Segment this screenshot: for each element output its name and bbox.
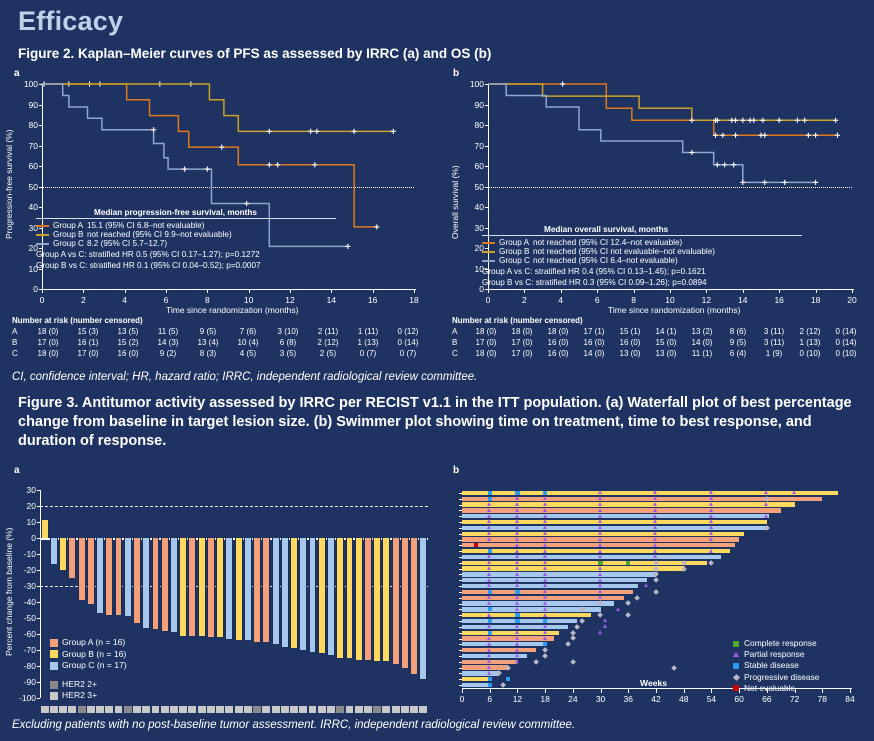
waterfall-bar	[244, 538, 252, 640]
marker-partial-response	[515, 653, 519, 657]
swimmer-bar	[462, 520, 767, 524]
marker-stable-disease	[488, 590, 492, 594]
marker-partial-response	[515, 543, 519, 547]
x-tick	[601, 689, 602, 693]
marker-partial-response	[598, 502, 602, 506]
marker-partial-response	[515, 659, 519, 663]
waterfall-bar	[68, 538, 76, 578]
waterfall-chart: 3020100-10-20-30-40-50-60-70-80-90-100Pe…	[0, 462, 448, 714]
censor-mark	[312, 162, 317, 167]
y-tick-label: -90	[8, 677, 36, 687]
censor-mark	[560, 81, 565, 86]
waterfall-bar	[198, 538, 206, 636]
marker-progressive-disease	[653, 589, 659, 595]
waterfall-bar	[382, 538, 390, 661]
marker-partial-response	[543, 508, 547, 512]
waterfall-bar	[115, 538, 123, 615]
waterfall-bar	[87, 538, 95, 604]
km-legend-row: Group Anot reached (95% CI 12.4–not eval…	[482, 238, 718, 247]
risk-row-label: C	[452, 348, 468, 359]
waterfall-bar	[262, 538, 270, 642]
marker-partial-response	[515, 572, 519, 576]
marker-stable-disease	[488, 497, 492, 501]
waterfall-bar	[410, 538, 418, 674]
risk-cell: 2 (11)	[308, 326, 348, 337]
risk-cell: 13 (5)	[108, 326, 148, 337]
risk-cell: 6 (4)	[720, 348, 756, 359]
x-tick	[573, 689, 574, 693]
y-tick	[37, 650, 40, 651]
risk-cell: 14 (1)	[648, 326, 684, 337]
her2-status-cell	[290, 706, 298, 713]
swimmer-legend-row: Complete response	[732, 638, 819, 649]
marker-stable-disease	[543, 642, 547, 646]
poster-page: Efficacy Figure 2. Kaplan–Meier curves o…	[0, 0, 874, 741]
marker-partial-response	[764, 514, 768, 518]
risk-cell: 13 (4)	[188, 337, 228, 348]
censor-mark	[813, 133, 818, 138]
km-legend-swatch	[482, 242, 495, 244]
swimmer-legend-marker	[733, 663, 739, 669]
censor-mark	[689, 150, 694, 155]
km-legend-median-value: not reached (95% CI 6.4–not evaluable)	[533, 256, 718, 265]
censor-mark	[762, 180, 767, 185]
km-legend-group-label: Group C	[53, 239, 87, 248]
risk-cell: 1 (9)	[756, 348, 792, 359]
censor-mark	[813, 180, 818, 185]
marker-progressive-disease	[570, 636, 576, 642]
marker-partial-response	[515, 624, 519, 628]
km-legend-swatch	[36, 225, 49, 227]
km-legend-row: Group Bnot reached (95% CI 9.9–not evalu…	[36, 230, 235, 239]
km-legend-median-value: not reached (95% CI 9.9–not evaluable)	[87, 230, 235, 239]
risk-cell: 8 (6)	[720, 326, 756, 337]
marker-partial-response	[709, 531, 713, 535]
her2-status-cell	[198, 706, 206, 713]
swimmer-legend-label: Partial response	[744, 649, 805, 660]
marker-partial-response	[653, 502, 657, 506]
risk-cell: 11 (5)	[148, 326, 188, 337]
censor-mark	[762, 133, 767, 138]
km-legend-group-label: Group C	[499, 256, 533, 265]
marker-progressive-disease	[653, 577, 659, 583]
waterfall-legend-label: Group A (n = 16)	[62, 637, 125, 649]
risk-cell: 0 (10)	[792, 348, 828, 359]
y-tick	[37, 698, 40, 699]
marker-partial-response	[598, 589, 602, 593]
marker-partial-response	[543, 589, 547, 593]
her2-status-cell	[336, 706, 344, 713]
marker-partial-response	[598, 496, 602, 500]
risk-cell: 0 (7)	[348, 348, 388, 359]
swimmer-bar	[462, 613, 591, 617]
risk-cell: 17 (0)	[504, 348, 540, 359]
marker-partial-response	[603, 618, 607, 622]
y-tick	[37, 570, 40, 571]
x-tick-label: 24	[564, 694, 582, 704]
her2-legend: HER2 2+HER2 3+	[50, 679, 97, 702]
x-tick	[711, 689, 712, 693]
x-tick-label: 84	[841, 694, 859, 704]
marker-partial-response	[515, 601, 519, 605]
km-curve-group-c	[488, 84, 816, 182]
risk-table-os: Number at risk (number censored)A18 (0)1…	[452, 316, 864, 359]
km-pfs-chart: 0102030405060708090100024681012141618Tim…	[0, 62, 440, 307]
swimmer-bar	[462, 526, 767, 530]
her2-status-cell	[364, 706, 372, 713]
marker-partial-response	[598, 543, 602, 547]
risk-cell: 17 (0)	[68, 348, 108, 359]
waterfall-bar	[179, 538, 187, 636]
x-tick-label: 66	[758, 694, 776, 704]
marker-partial-response	[487, 531, 491, 535]
censor-mark	[722, 162, 727, 167]
swimmer-legend-marker	[733, 685, 739, 691]
marker-partial-response	[644, 583, 648, 587]
swimmer-bar	[462, 619, 577, 623]
marker-partial-response	[543, 496, 547, 500]
x-tick	[684, 689, 685, 693]
her2-status-cell	[346, 706, 354, 713]
swimmer-bar	[462, 561, 707, 565]
risk-row-label: B	[452, 337, 468, 348]
x-tick	[545, 689, 546, 693]
marker-partial-response	[487, 519, 491, 523]
risk-cell: 8 (3)	[188, 348, 228, 359]
her2-status-cell	[87, 706, 95, 713]
censor-mark	[391, 129, 396, 134]
x-axis-title: Weeks	[640, 678, 667, 688]
her2-legend-label: HER2 3+	[62, 690, 97, 702]
her2-legend-row: HER2 3+	[50, 690, 97, 702]
x-tick	[822, 689, 823, 693]
her2-status-cell	[41, 706, 49, 713]
marker-progressive-disease	[575, 624, 581, 630]
waterfall-bar	[59, 538, 67, 570]
marker-partial-response	[598, 630, 602, 634]
table-row: A18 (0)15 (3)13 (5)11 (5)9 (5)7 (6)3 (10…	[12, 326, 428, 337]
marker-partial-response	[543, 543, 547, 547]
marker-partial-response	[543, 554, 547, 558]
her2-legend-swatch	[50, 692, 58, 700]
waterfall-bar	[318, 538, 326, 653]
her2-status-cell	[262, 706, 270, 713]
censor-mark	[345, 244, 350, 249]
waterfall-bar	[401, 538, 409, 668]
censor-mark	[351, 129, 356, 134]
km-hr-block: Group A vs C: stratified HR 0.5 (95% CI …	[36, 250, 336, 271]
risk-cell: 14 (0)	[684, 337, 720, 348]
marker-partial-response	[543, 519, 547, 523]
marker-partial-response	[543, 549, 547, 553]
marker-partial-response	[709, 496, 713, 500]
marker-partial-response	[487, 554, 491, 558]
risk-cell: 16 (0)	[576, 337, 612, 348]
swimmer-bar	[462, 648, 536, 652]
waterfall-bar	[355, 538, 363, 660]
swimmer-legend: Complete responsePartial responseStable …	[732, 638, 819, 694]
km-curves	[0, 62, 440, 312]
waterfall-bar	[327, 538, 335, 655]
waterfall-bar	[170, 538, 178, 632]
marker-partial-response	[515, 636, 519, 640]
her2-status-cell	[161, 706, 169, 713]
risk-cell: 0 (10)	[828, 348, 864, 359]
waterfall-bar	[309, 538, 317, 652]
censor-mark	[720, 133, 725, 138]
her2-status-cell	[124, 706, 132, 713]
marker-partial-response	[709, 549, 713, 553]
x-tick	[462, 689, 463, 693]
y-tick-label: 10	[8, 517, 36, 527]
marker-partial-response	[598, 549, 602, 553]
km-legend-group-label: Group B	[499, 247, 533, 256]
km-legend-row: Group A15.1 (95% CI 6.8–not evaluable)	[36, 221, 235, 230]
marker-partial-response	[653, 554, 657, 558]
km-os-chart: 010203040506070809010002468101214161820T…	[440, 62, 874, 307]
censor-mark	[689, 118, 694, 123]
swimmer-legend-marker-wrap	[732, 641, 740, 647]
risk-cell: 15 (2)	[108, 337, 148, 348]
marker-partial-response	[792, 490, 796, 494]
her2-status-cell	[96, 706, 104, 713]
risk-row-label: C	[12, 348, 28, 359]
censor-mark	[267, 162, 272, 167]
km-legend-swatch	[482, 260, 495, 262]
marker-partial-response	[487, 560, 491, 564]
risk-cell: 15 (1)	[612, 326, 648, 337]
page-title: Efficacy	[18, 6, 123, 37]
marker-partial-response	[764, 502, 768, 506]
marker-partial-response	[543, 514, 547, 518]
swimmer-bar	[462, 532, 744, 536]
km-legend-swatch	[36, 243, 49, 245]
marker-progressive-disease	[625, 612, 631, 618]
waterfall-bar	[281, 538, 289, 647]
waterfall-bar	[235, 538, 243, 640]
table-row: A18 (0)18 (0)18 (0)17 (1)15 (1)14 (1)13 …	[452, 326, 864, 337]
marker-partial-response	[603, 624, 607, 628]
km-legend-title: Median progression-free survival, months	[36, 208, 336, 217]
waterfall-bar	[272, 538, 280, 644]
x-tick-label: 42	[647, 694, 665, 704]
marker-progressive-disease	[542, 653, 548, 659]
marker-partial-response	[653, 519, 657, 523]
risk-cell: 0 (14)	[828, 337, 864, 348]
marker-partial-response	[515, 630, 519, 634]
swimmer-bar	[462, 566, 684, 570]
y-tick	[37, 522, 40, 523]
her2-status-cell	[355, 706, 363, 713]
her2-status-cell	[410, 706, 418, 713]
figure2-caption: Figure 2. Kaplan–Meier curves of PFS as …	[18, 46, 858, 61]
y-tick	[37, 618, 40, 619]
risk-cell: 16 (0)	[108, 348, 148, 359]
marker-partial-response	[515, 537, 519, 541]
swimmer-legend-marker	[732, 674, 739, 681]
km-hr-line: Group B vs C: stratified HR 0.1 (95% CI …	[36, 261, 336, 272]
km-legend-row: Group Bnot reached (95% CI not evaluable…	[482, 247, 718, 256]
km-hr-line: Group B vs C: stratified HR 0.3 (95% CI …	[482, 278, 802, 289]
waterfall-bar	[299, 538, 307, 650]
km-legend-rule	[36, 218, 336, 219]
risk-table-pfs: Number at risk (number censored)A18 (0)1…	[12, 316, 428, 359]
y-tick-label: -80	[8, 661, 36, 671]
marker-partial-response	[515, 508, 519, 512]
risk-cell: 0 (14)	[388, 337, 428, 348]
marker-partial-response	[515, 560, 519, 564]
km-legend-median-value: 15.1 (95% CI 6.8–not evaluable)	[87, 221, 235, 230]
marker-stable-disease	[488, 619, 492, 623]
her2-status-cell	[105, 706, 113, 713]
censor-mark	[835, 133, 840, 138]
her2-legend-label: HER2 2+	[62, 679, 97, 691]
risk-cell: 18 (0)	[28, 326, 68, 337]
risk-cell: 2 (12)	[792, 326, 828, 337]
risk-cell: 16 (1)	[68, 337, 108, 348]
marker-partial-response	[487, 671, 491, 675]
waterfall-bar	[161, 538, 169, 631]
swimmer-legend-marker-wrap	[732, 685, 740, 691]
risk-cell: 15 (0)	[648, 337, 684, 348]
marker-partial-response	[709, 525, 713, 529]
km-legend-swatch-cell	[482, 247, 499, 256]
x-tick-label: 36	[619, 694, 637, 704]
km-legend-group-label: Group A	[53, 221, 87, 230]
waterfall-bar	[216, 538, 224, 637]
km-legend-swatch-cell	[482, 238, 499, 247]
swimmer-bar	[462, 514, 769, 518]
marker-stable-disease	[488, 607, 492, 611]
marker-partial-response	[598, 519, 602, 523]
marker-partial-response	[709, 537, 713, 541]
marker-partial-response	[487, 624, 491, 628]
censor-mark	[777, 118, 782, 123]
km-legend-group-label: Group B	[53, 230, 87, 239]
marker-partial-response	[543, 566, 547, 570]
risk-table: A18 (0)18 (0)18 (0)17 (1)15 (1)14 (1)13 …	[452, 326, 864, 359]
marker-partial-response	[515, 549, 519, 553]
marker-partial-response	[653, 496, 657, 500]
censor-mark	[760, 118, 765, 123]
marker-partial-response	[515, 648, 519, 652]
y-tick	[37, 682, 40, 683]
risk-cell: 16 (0)	[612, 337, 648, 348]
risk-cell: 1 (13)	[348, 337, 388, 348]
risk-row-label: A	[452, 326, 468, 337]
her2-status-cell	[272, 706, 280, 713]
marker-stable-disease	[515, 613, 519, 617]
waterfall-bar	[346, 538, 354, 658]
km-hr-line: Group A vs C: stratified HR 0.5 (95% CI …	[36, 250, 336, 261]
censor-mark	[731, 162, 736, 167]
her2-status-cell	[299, 706, 307, 713]
waterfall-bar	[336, 538, 344, 658]
risk-cell: 9 (5)	[720, 337, 756, 348]
risk-cell: 6 (8)	[268, 337, 308, 348]
waterfall-bar	[419, 538, 427, 679]
marker-partial-response	[598, 554, 602, 558]
risk-cell: 1 (11)	[348, 326, 388, 337]
swimmer-legend-label: Stable disease	[744, 660, 799, 671]
marker-partial-response	[598, 531, 602, 535]
risk-cell: 3 (10)	[268, 326, 308, 337]
marker-partial-response	[543, 560, 547, 564]
her2-status-cell	[225, 706, 233, 713]
marker-partial-response	[487, 642, 491, 646]
censor-mark	[806, 133, 811, 138]
km-curve-group-b	[42, 84, 393, 131]
swimmer-bar	[462, 549, 730, 553]
marker-partial-response	[487, 583, 491, 587]
waterfall-bar	[253, 538, 261, 642]
swimmer-legend-label: Progressive disease	[744, 672, 819, 683]
marker-partial-response	[515, 502, 519, 506]
reference-line-20	[40, 506, 428, 507]
her2-status-cell	[59, 706, 67, 713]
table-row: B17 (0)17 (0)16 (0)16 (0)16 (0)15 (0)14 …	[452, 337, 864, 348]
km-legend-swatch	[482, 251, 495, 253]
censor-mark	[802, 118, 807, 123]
her2-status-cell	[188, 706, 196, 713]
marker-partial-response	[543, 595, 547, 599]
x-tick-label: 18	[536, 694, 554, 704]
marker-partial-response	[487, 648, 491, 652]
swimmer-bar	[462, 683, 490, 687]
censor-mark	[308, 129, 313, 134]
marker-partial-response	[709, 508, 713, 512]
marker-partial-response	[487, 601, 491, 605]
y-tick	[37, 490, 40, 491]
swimmer-legend-marker-wrap	[732, 663, 740, 669]
swimmer-bar	[462, 671, 499, 675]
marker-partial-response	[709, 502, 713, 506]
y-tick	[37, 602, 40, 603]
marker-stable-disease	[506, 677, 510, 681]
marker-partial-response	[543, 525, 547, 529]
marker-partial-response	[487, 653, 491, 657]
her2-status-cell	[373, 706, 381, 713]
censor-mark	[374, 224, 379, 229]
km-legend-median-value: not reached (95% CI 12.4–not evaluable)	[533, 238, 718, 247]
marker-partial-response	[515, 583, 519, 587]
risk-cell: 14 (0)	[576, 348, 612, 359]
waterfall-bar	[207, 538, 215, 637]
censor-mark	[314, 129, 319, 134]
risk-cell: 3 (11)	[756, 337, 792, 348]
marker-complete-response	[598, 561, 602, 565]
waterfall-bar	[290, 538, 298, 648]
marker-partial-response	[515, 566, 519, 570]
marker-progressive-disease	[533, 659, 539, 665]
waterfall-bar	[364, 538, 372, 660]
her2-status-cell	[309, 706, 317, 713]
figure3-caption: Figure 3. Antitumor activity assessed by…	[18, 394, 864, 451]
censor-mark	[182, 166, 187, 171]
censor-mark	[733, 118, 738, 123]
swimmer-legend-row: Not evaluable	[732, 683, 819, 694]
swimmer-bar	[462, 665, 508, 669]
marker-partial-response	[515, 525, 519, 529]
her2-status-cell	[207, 706, 215, 713]
marker-partial-response	[543, 613, 547, 617]
censor-mark	[733, 133, 738, 138]
marker-partial-response	[653, 537, 657, 541]
risk-cell: 10 (4)	[228, 337, 268, 348]
swimmer-legend-marker	[733, 652, 739, 657]
y-tick-label: 20	[8, 501, 36, 511]
risk-table: A18 (0)15 (3)13 (5)11 (5)9 (5)7 (6)3 (10…	[12, 326, 428, 359]
